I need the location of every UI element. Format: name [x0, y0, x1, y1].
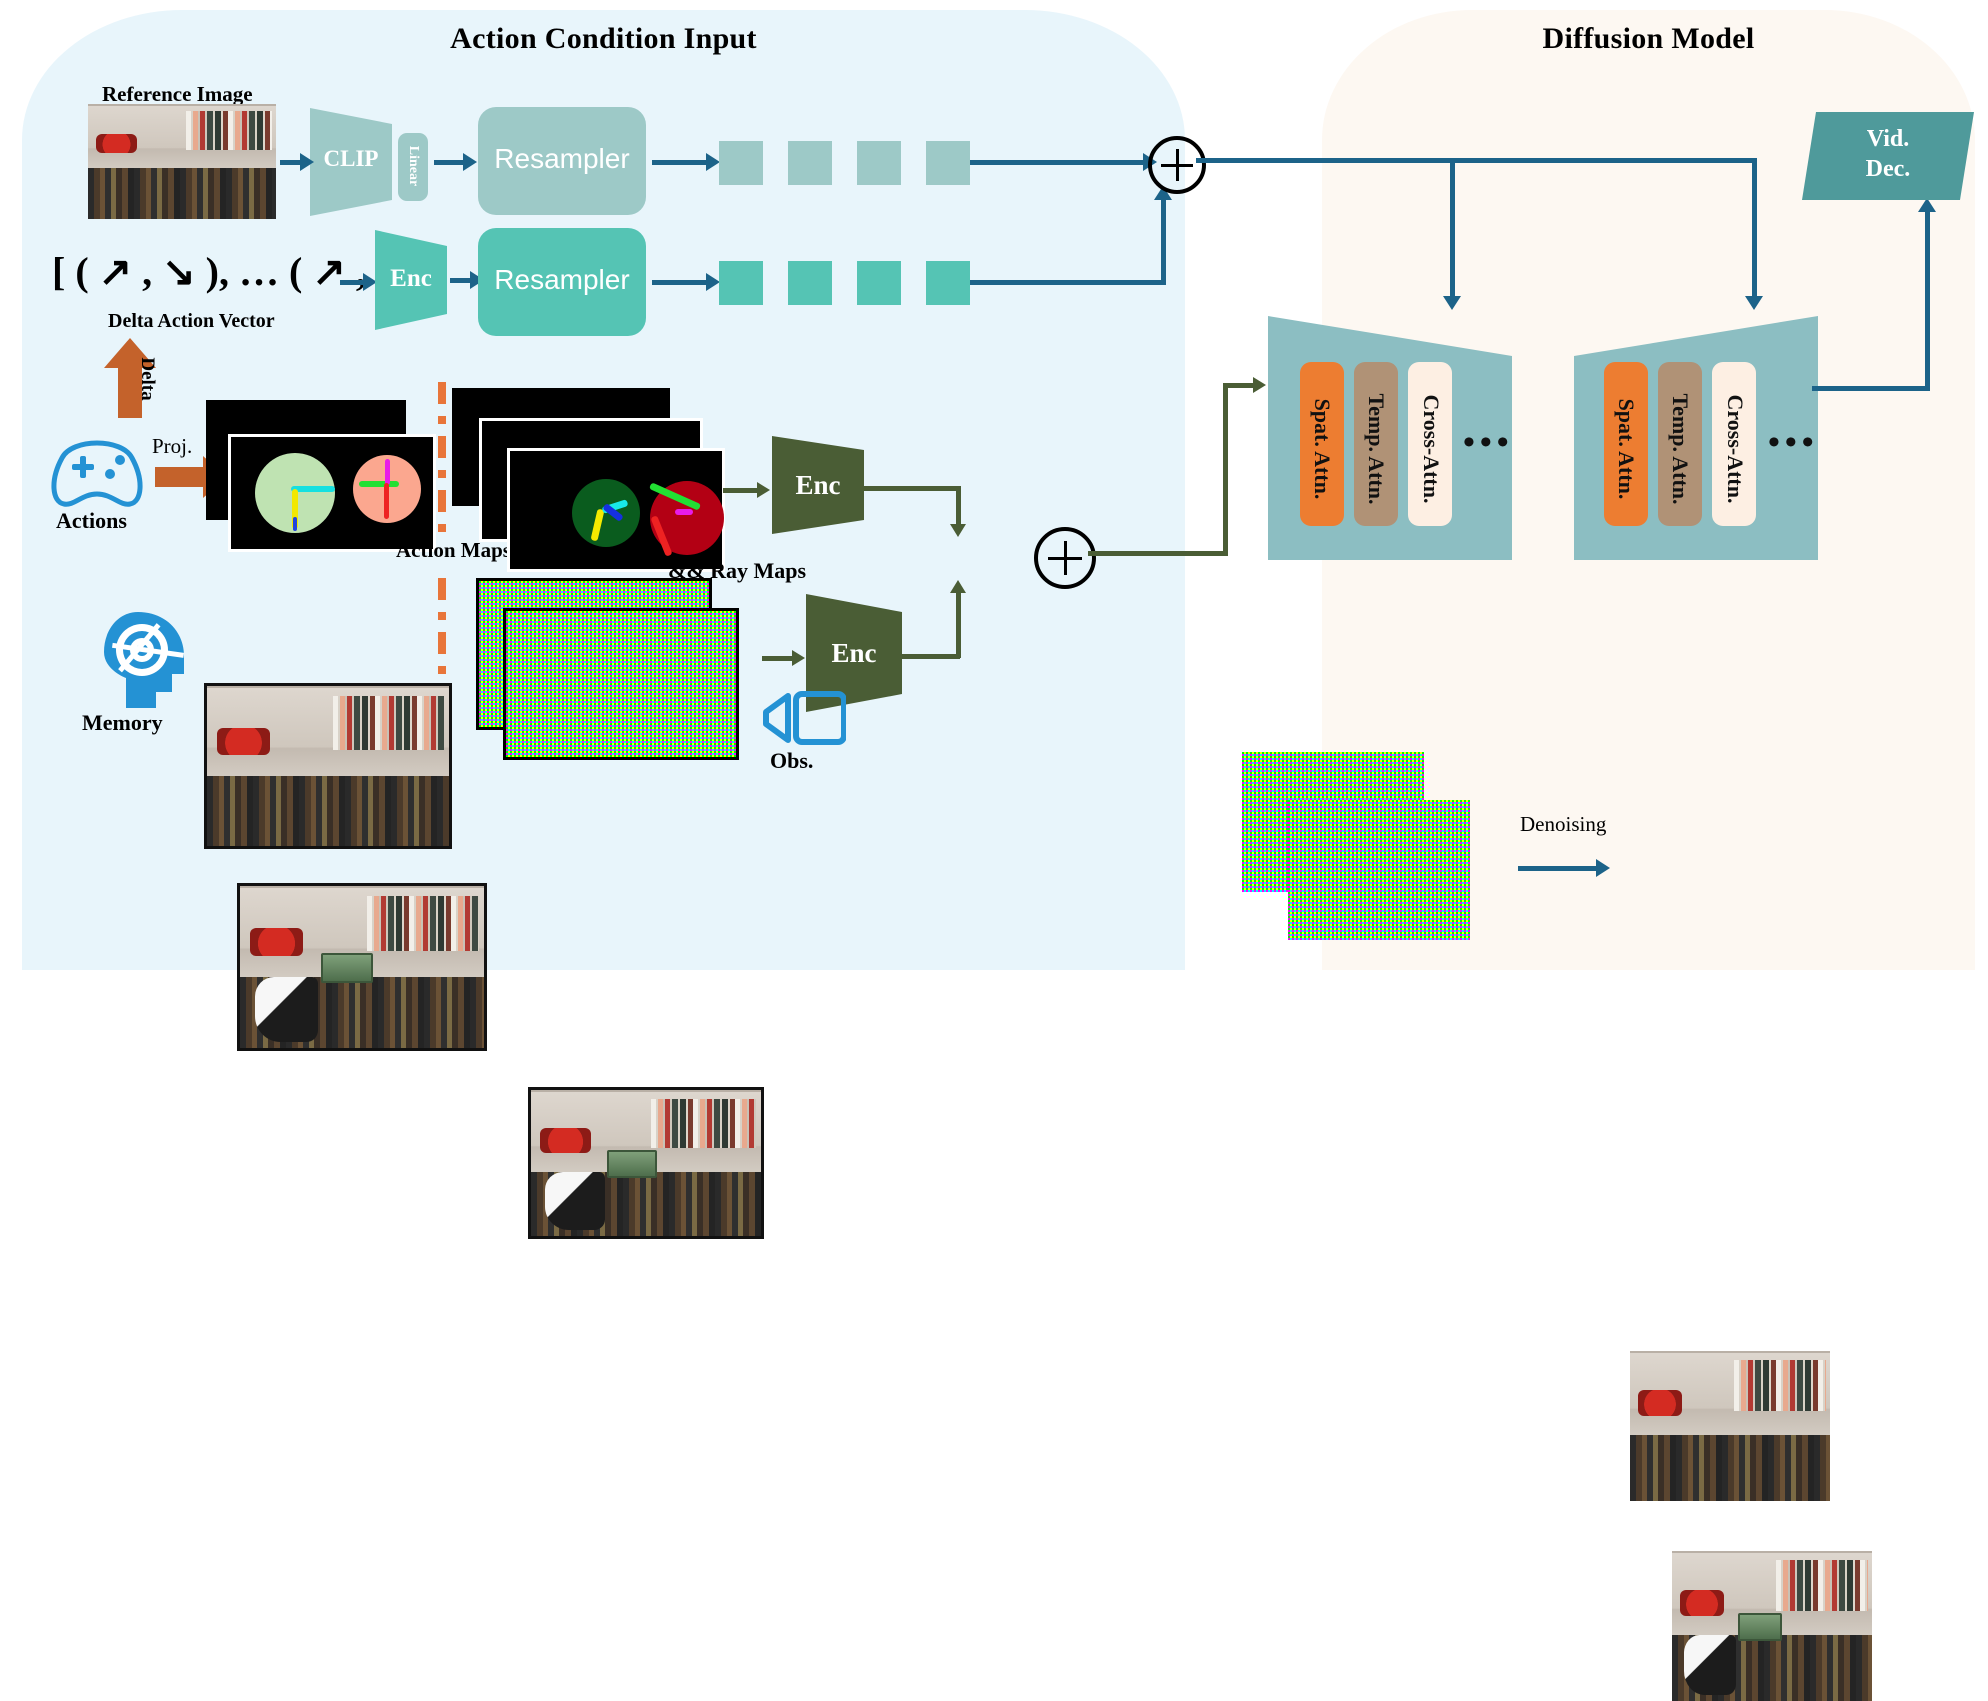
arrow-vector-to-enc [340, 280, 364, 285]
sum-node-condition[interactable] [1148, 136, 1206, 194]
memory-label: Memory [82, 710, 163, 736]
line-tokens-bottom-right [970, 280, 1166, 285]
cross-attn-label: Cross-Attn. [1418, 386, 1444, 512]
memory-head-icon [92, 608, 188, 712]
bus-condition-horizontal [1196, 158, 1756, 163]
line-encobs-right [898, 654, 960, 659]
line-unet-out-up [1925, 212, 1930, 390]
arrowhead-refimg-to-clip [300, 153, 314, 171]
arrowhead-linear-to-resampler [463, 153, 477, 171]
ray-axis-stick [675, 509, 693, 515]
arrowhead-raymaps-to-enc [757, 482, 770, 498]
token-square [926, 261, 970, 305]
arrowhead-cond-to-up-cross-attn [1745, 296, 1763, 310]
arrowhead-encray-to-sum [950, 524, 966, 537]
linear-label: Linear [405, 136, 421, 196]
panel-title-diffusion-model: Diffusion Model [1322, 22, 1975, 56]
line-latent-up [1223, 383, 1228, 555]
token-square [857, 141, 901, 185]
unet-up-ellipsis: ••• [1768, 426, 1819, 460]
arrowhead-denoising [1596, 859, 1610, 877]
line-latent-to-unet [1088, 551, 1228, 556]
memory-frame-back [204, 683, 452, 849]
obs-label: Obs. [770, 748, 813, 774]
temp-attn-label: Temp. Attn. [1667, 389, 1693, 509]
cross-attn-label: Cross-Attn. [1722, 386, 1748, 512]
spat-attn-label: Spat. Attn. [1613, 389, 1639, 509]
token-square [719, 261, 763, 305]
arrow-enc-to-resampler-bottom [450, 278, 472, 283]
arrow-linear-to-resampler [434, 160, 464, 165]
temp-attn-label: Temp. Attn. [1363, 389, 1389, 509]
divider-dashed-upper [438, 382, 446, 542]
action-axis-stick [384, 483, 389, 519]
token-square [788, 261, 832, 305]
video-camera-icon [760, 690, 846, 752]
line-tokens-bottom-up [1161, 200, 1166, 285]
memory-frame-front [237, 883, 487, 1051]
token-square [857, 261, 901, 305]
line-tokens-to-sum-top [970, 160, 1145, 165]
action-map-frame-front [228, 434, 436, 552]
resampler-top-label: Resampler [478, 143, 646, 175]
clip-label: CLIP [310, 146, 392, 172]
denoise-input-noise-front [1288, 800, 1470, 940]
sum-node-latent[interactable] [1034, 527, 1096, 589]
spat-attn-label: Spat. Attn. [1309, 389, 1335, 509]
arrow-obs-to-enc [762, 656, 794, 661]
obs-frame-clean-front [528, 1087, 764, 1239]
arrowhead-resampler-to-tokens-bottom [706, 273, 720, 291]
arrowhead-resampler-to-tokens-top [706, 153, 720, 171]
line-latent-into-unet [1223, 383, 1255, 388]
line-unet-out-right [1812, 386, 1930, 391]
resampler-bottom-label: Resampler [478, 264, 646, 296]
video-decoder-line1: Vid. [1802, 126, 1974, 153]
arrowhead-unet-to-viddec [1918, 198, 1936, 212]
video-decoder-line2: Dec. [1802, 156, 1974, 183]
denoise-output-front [1672, 1551, 1872, 1701]
ray-map-frame-front [507, 448, 725, 572]
line-encobs-up [956, 592, 961, 658]
arrow-resampler-to-tokens-bottom [652, 280, 708, 285]
action-axis-stick [385, 459, 390, 485]
delta-action-vector-label: Delta Action Vector [108, 310, 275, 333]
denoise-output-back [1630, 1351, 1830, 1501]
panel-title-action-condition-input: Action Condition Input [22, 22, 1185, 56]
bus-drop-down-block [1450, 158, 1455, 298]
token-square [719, 141, 763, 185]
enc-obs-label: Enc [806, 638, 902, 669]
reference-image-thumbnail [88, 104, 276, 219]
arrowhead-latent-into-unet [1253, 377, 1266, 393]
gamepad-icon [48, 432, 146, 510]
enc-raymaps-label: Enc [772, 470, 864, 501]
arrow-resampler-to-tokens-top [652, 160, 708, 165]
arrowhead-cond-to-down-cross-attn [1443, 296, 1461, 310]
arrow-refimg-to-clip [280, 160, 300, 165]
token-square [926, 141, 970, 185]
line-encray-right [860, 486, 960, 491]
arrowhead-encobs-to-sum [950, 580, 966, 593]
action-axis-stick [293, 517, 297, 531]
obs-frame-noise-mid [503, 608, 739, 760]
line-encray-down [956, 486, 961, 528]
bus-drop-up-block [1752, 158, 1757, 298]
arrowhead-obs-to-enc [792, 650, 805, 666]
action-axis-stick [359, 481, 399, 487]
arrow-denoising [1518, 866, 1598, 871]
enc-action-label: Enc [375, 265, 447, 293]
token-square [788, 141, 832, 185]
unet-down-ellipsis: ••• [1463, 426, 1514, 460]
actions-label: Actions [56, 508, 127, 534]
delta-arrow-label: Delta [136, 344, 158, 414]
arrow-raymaps-to-enc [723, 488, 759, 493]
denoising-label: Denoising [1520, 812, 1606, 837]
